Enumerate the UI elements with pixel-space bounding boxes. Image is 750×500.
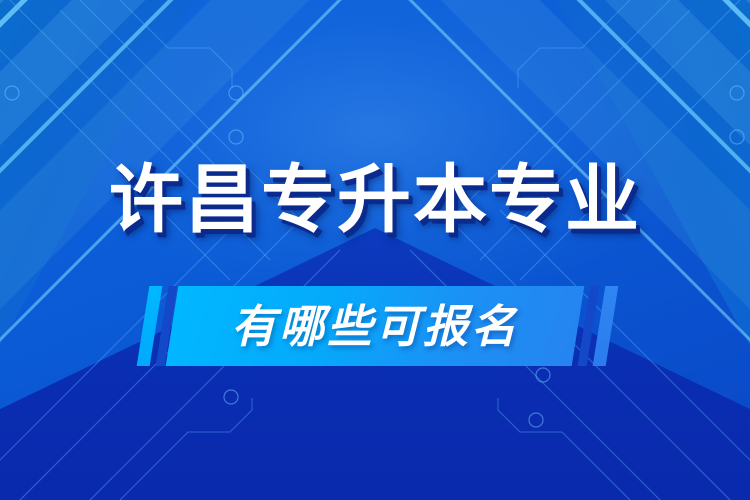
circuit-node-icon [229, 86, 243, 100]
promo-banner: 许昌专升本专业 有哪些可报名 [0, 0, 750, 500]
page-title: 许昌专升本专业 [0, 163, 750, 237]
circuit-lines-decoration [0, 0, 750, 500]
subtitle-text: 有哪些可报名 [0, 296, 750, 358]
circuit-node-icon [730, 86, 744, 100]
circuit-node-icon [529, 413, 543, 427]
circuit-node-icon [5, 86, 19, 100]
circuit-node-icon [224, 390, 238, 404]
circuit-node-icon [229, 130, 243, 144]
circuit-node-icon [536, 368, 550, 382]
circuit-node-icon [730, 130, 744, 144]
